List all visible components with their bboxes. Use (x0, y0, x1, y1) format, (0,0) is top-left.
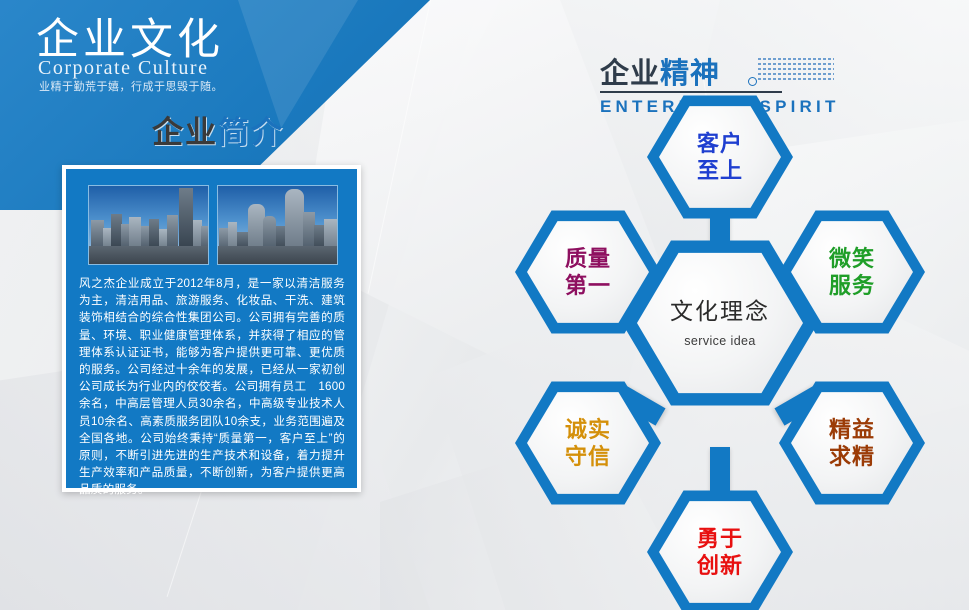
hex-culture-concept-cn: 文化理念 (670, 296, 770, 326)
hex-smile-service[interactable]: 微笑 服务 (779, 208, 925, 336)
decorative-microtext (758, 58, 834, 83)
hex-innovation[interactable]: 勇于 创新 (647, 488, 793, 610)
hex-quality-first[interactable]: 质量 第一 (515, 208, 661, 336)
hex-culture-concept-en: service idea (684, 332, 756, 350)
company-intro-heading-blue: 简介 (218, 115, 284, 150)
decorative-circle-icon (748, 77, 757, 86)
hex-quality-first-line2: 第一 (565, 272, 611, 299)
hex-spoke (710, 447, 730, 493)
corporate-culture-motto: 业精于勤荒于嬉，行成于思毁于随。 (39, 80, 223, 95)
poster-canvas: 企业文化 Corporate Culture 业精于勤荒于嬉，行成于思毁于随。 … (0, 0, 969, 610)
hex-innovation-line1: 勇于 (697, 525, 743, 552)
hex-excellence[interactable]: 精益 求精 (779, 379, 925, 507)
culture-hex-cluster: 文化理念 service idea 客户 至上 质量 第一 微笑 (470, 95, 969, 610)
hex-customer-first[interactable]: 客户 至上 (647, 93, 793, 221)
hex-excellence-line2: 求精 (829, 443, 875, 470)
company-intro-panel: 风之杰企业成立于2012年8月，是一家以清洁服务为主，清洁用品、旅游服务、化妆品… (66, 169, 357, 488)
company-intro-heading: 企业简介 (152, 113, 284, 153)
hex-quality-first-line1: 质量 (565, 245, 611, 272)
city-towers-photo (217, 185, 338, 265)
hex-integrity[interactable]: 诚实 守信 (515, 379, 661, 507)
enterprise-spirit-title-dark: 企业 (600, 58, 660, 90)
hex-innovation-line2: 创新 (697, 552, 743, 579)
hex-customer-first-line1: 客户 (697, 130, 743, 157)
hex-integrity-line1: 诚实 (565, 416, 611, 443)
company-photo-row (88, 185, 338, 263)
hex-integrity-line2: 守信 (565, 443, 611, 470)
city-skyline-photo (88, 185, 209, 265)
company-intro-heading-dark: 企业 (152, 115, 218, 150)
hex-excellence-line1: 精益 (829, 416, 875, 443)
hex-smile-service-line2: 服务 (829, 272, 875, 299)
enterprise-spirit-title-blue: 精神 (660, 58, 720, 90)
hex-customer-first-line2: 至上 (697, 157, 743, 184)
hex-smile-service-line1: 微笑 (829, 245, 875, 272)
company-intro-body: 风之杰企业成立于2012年8月，是一家以清洁服务为主，清洁用品、旅游服务、化妆品… (79, 275, 345, 499)
corporate-culture-subtitle: Corporate Culture (38, 56, 208, 80)
